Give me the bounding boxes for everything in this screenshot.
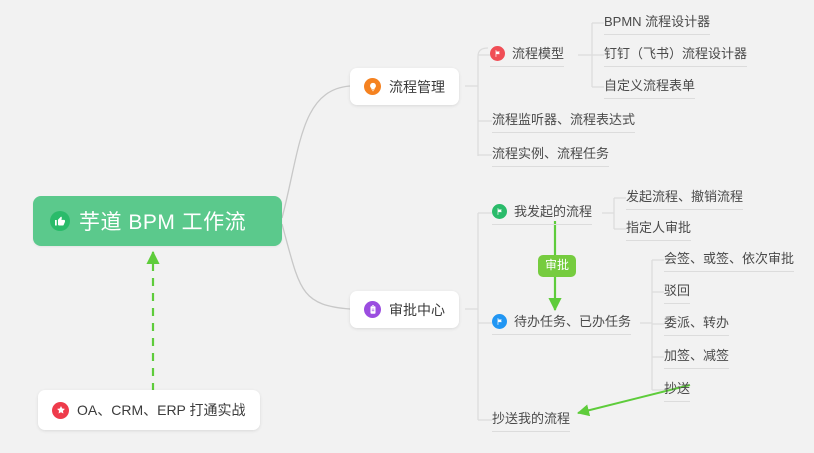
node-label-reject: 驳回 bbox=[664, 284, 690, 297]
star-icon bbox=[52, 402, 69, 419]
node-label-delegate-transfer: 委派、转办 bbox=[664, 316, 729, 329]
branch-node-approval-center[interactable]: 审批中心 bbox=[350, 291, 459, 328]
node-label-cc-to-me: 抄送我的流程 bbox=[492, 412, 570, 425]
node-label-custom-form: 自定义流程表单 bbox=[604, 79, 695, 92]
node-label-dingtalk-designer: 钉钉（飞书）流程设计器 bbox=[604, 47, 747, 60]
node-label-add-remove-sign: 加签、减签 bbox=[664, 349, 729, 362]
link-root-to-approval-center bbox=[282, 224, 350, 309]
link-pm-trunk bbox=[478, 48, 488, 156]
link-root-to-process-management bbox=[282, 86, 350, 218]
node-label-todo-done-task: 待办任务、已办任务 bbox=[514, 315, 631, 328]
node-label-process-listener: 流程监听器、流程表达式 bbox=[492, 113, 635, 126]
node-cc-to-me[interactable]: 抄送我的流程 bbox=[492, 409, 570, 432]
node-process-listener[interactable]: 流程监听器、流程表达式 bbox=[492, 110, 635, 133]
node-assignee-approval[interactable]: 指定人审批 bbox=[626, 218, 691, 241]
node-label-process-instance: 流程实例、流程任务 bbox=[492, 147, 609, 160]
branch-node-process-management[interactable]: 流程管理 bbox=[350, 68, 459, 105]
root-label: 芋道 BPM 工作流 bbox=[79, 206, 246, 236]
branch-label-approval-center: 审批中心 bbox=[389, 300, 445, 320]
approval-tag[interactable]: 审批 bbox=[538, 255, 576, 277]
node-label-start-cancel-process: 发起流程、撤销流程 bbox=[626, 190, 743, 203]
node-bpmn-designer[interactable]: BPMN 流程设计器 bbox=[604, 12, 710, 35]
root-node[interactable]: 芋道 BPM 工作流 bbox=[33, 196, 282, 246]
floating-card-label: OA、CRM、ERP 打通实战 bbox=[77, 400, 246, 420]
branch-label-process-management: 流程管理 bbox=[389, 77, 445, 97]
node-add-remove-sign[interactable]: 加签、减签 bbox=[664, 346, 729, 369]
node-process-instance[interactable]: 流程实例、流程任务 bbox=[492, 144, 609, 167]
mindmap-canvas: 芋道 BPM 工作流 流程管理 审批中心 流程模型 流程监听器、流程表达式 bbox=[0, 0, 814, 453]
node-dingtalk-designer[interactable]: 钉钉（飞书）流程设计器 bbox=[604, 44, 747, 67]
node-reject[interactable]: 驳回 bbox=[664, 281, 690, 304]
node-delegate-transfer[interactable]: 委派、转办 bbox=[664, 313, 729, 336]
node-my-started-process[interactable]: 我发起的流程 bbox=[492, 202, 592, 225]
node-label-process-model: 流程模型 bbox=[512, 47, 564, 60]
flag-icon bbox=[490, 46, 505, 61]
clipboard-icon bbox=[364, 301, 381, 318]
floating-card-integration-practice[interactable]: OA、CRM、ERP 打通实战 bbox=[38, 390, 260, 430]
node-todo-done-task[interactable]: 待办任务、已办任务 bbox=[492, 312, 631, 335]
node-label-assignee-approval: 指定人审批 bbox=[626, 221, 691, 234]
node-label-my-started-process: 我发起的流程 bbox=[514, 205, 592, 218]
node-start-cancel-process[interactable]: 发起流程、撤销流程 bbox=[626, 187, 743, 210]
thumbs-up-icon bbox=[50, 211, 70, 231]
flag-icon bbox=[492, 314, 507, 329]
node-custom-form[interactable]: 自定义流程表单 bbox=[604, 76, 695, 99]
node-carbon-copy[interactable]: 抄送 bbox=[664, 379, 690, 402]
node-label-carbon-copy: 抄送 bbox=[664, 382, 690, 395]
node-process-model[interactable]: 流程模型 bbox=[490, 44, 564, 67]
node-countersign[interactable]: 会签、或签、依次审批 bbox=[664, 249, 794, 272]
flag-icon bbox=[492, 204, 507, 219]
node-label-bpmn-designer: BPMN 流程设计器 bbox=[604, 15, 710, 28]
node-label-countersign: 会签、或签、依次审批 bbox=[664, 252, 794, 265]
lightbulb-icon bbox=[364, 78, 381, 95]
